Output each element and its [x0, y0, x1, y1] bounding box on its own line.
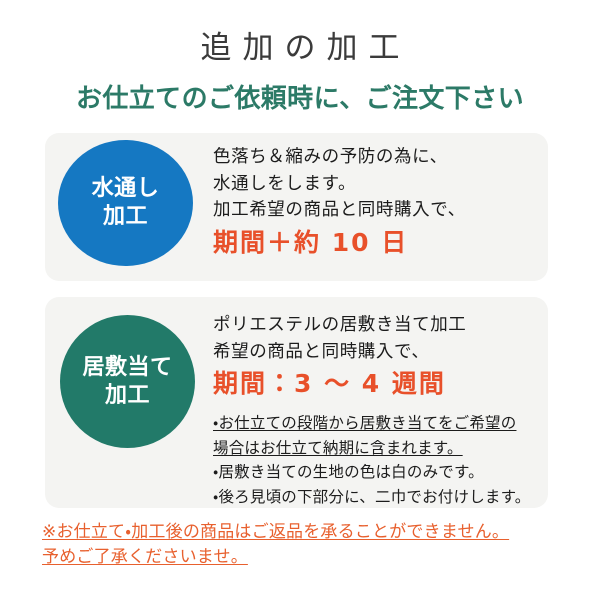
duration-highlight: 期間：3 〜 4 週間	[213, 366, 536, 402]
note-item: ・居敷き当ての生地の色は白のみです。	[213, 460, 536, 485]
disclaimer-line: ※お仕立て・加工後の商品はご返品を承ることができません。	[42, 520, 572, 545]
service-card-lining: 居敷当て 加工 ポリエステルの居敷き当て加工 希望の商品と同時購入で、 期間：3…	[45, 297, 548, 508]
description-line: 色落ち＆縮みの予防の為に、	[213, 144, 536, 171]
description-line: 水通しをします。	[213, 171, 536, 198]
page-subtitle: お仕立てのご依頼時に、ご注文下さい	[0, 82, 600, 116]
description-line: 希望の商品と同時購入で、	[213, 339, 536, 366]
badge-label-line2: 加工	[105, 382, 150, 410]
badge-water-treatment: 水通し 加工	[58, 140, 193, 266]
service-card-water-treatment: 水通し 加工 色落ち＆縮みの予防の為に、 水通しをします。 加工希望の商品と同時…	[45, 133, 548, 281]
description-line: ポリエステルの居敷き当て加工	[213, 312, 536, 339]
footer-disclaimer: ※お仕立て・加工後の商品はご返品を承ることができません。 予めご了承くださいませ…	[42, 520, 572, 570]
badge-label-line1: 水通し	[92, 175, 160, 203]
duration-highlight: 期間＋約 10 日	[213, 225, 536, 261]
description-line: 加工希望の商品と同時購入で、	[213, 197, 536, 224]
card-body-lining: ポリエステルの居敷き当て加工 希望の商品と同時購入で、 期間：3 〜 4 週間 …	[213, 312, 536, 509]
note-item: 場合はお仕立て納期に含まれます。	[213, 436, 536, 461]
page-title: 追加の加工	[0, 28, 600, 68]
product-info-graphic: 追加の加工 お仕立てのご依頼時に、ご注文下さい 水通し 加工 色落ち＆縮みの予防…	[0, 0, 600, 600]
disclaimer-line: 予めご了承くださいませ。	[42, 545, 572, 570]
note-item: ・お仕立ての段階から居敷き当てをご希望の	[213, 411, 536, 436]
note-list: ・お仕立ての段階から居敷き当てをご希望の 場合はお仕立て納期に含まれます。 ・居…	[213, 411, 536, 509]
note-item: ・後ろ見頃の下部分に、二巾でお付けします。	[213, 485, 536, 510]
badge-label-line1: 居敷当て	[82, 354, 172, 382]
card-body-water-treatment: 色落ち＆縮みの予防の為に、 水通しをします。 加工希望の商品と同時購入で、 期間…	[213, 144, 536, 261]
badge-lining: 居敷当て 加工	[60, 315, 195, 448]
badge-label-line2: 加工	[103, 203, 148, 231]
